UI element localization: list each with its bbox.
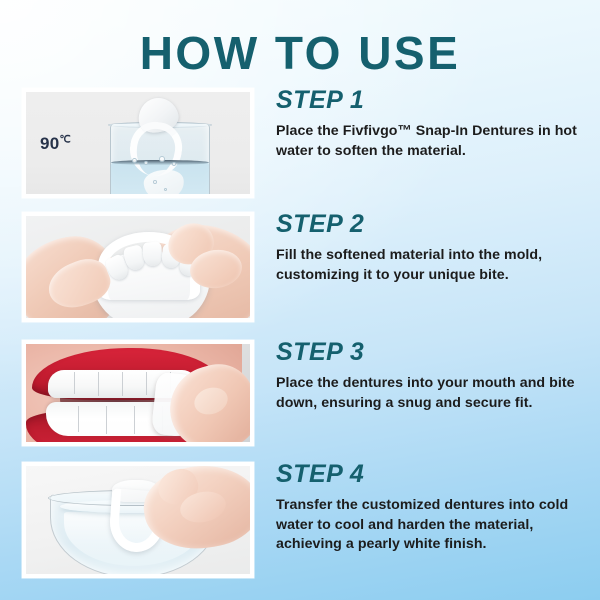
step-row-1: 90℃ STEP 1 Place the Fivfivgo™ Snap-In D… xyxy=(0,88,600,204)
bubble-icon xyxy=(164,188,167,191)
tooth-separator xyxy=(122,372,123,396)
tooth-separator xyxy=(134,406,135,434)
hands-shaping-denture-mold-photo xyxy=(26,216,250,318)
tooth-separator xyxy=(106,406,107,434)
tooth-separator xyxy=(78,406,79,432)
step-2-description: Fill the softened material into the mold… xyxy=(276,246,588,285)
step-3-image-frame xyxy=(22,340,254,446)
step-row-3: STEP 3 Place the dentures into your mout… xyxy=(0,340,600,452)
tooth-separator xyxy=(146,372,147,395)
tooth-separator xyxy=(98,372,99,396)
bubble-icon xyxy=(172,162,176,166)
temperature-unit: ℃ xyxy=(60,134,72,145)
bubble-icon xyxy=(144,161,148,165)
mouth-fitting-denture-veneer-photo xyxy=(26,344,250,442)
step-4-description: Transfer the customized dentures into co… xyxy=(276,496,588,555)
step-3-text-block: STEP 3 Place the dentures into your mout… xyxy=(276,340,588,413)
denture-in-hot-water-glass-photo: 90℃ xyxy=(26,92,250,194)
step-4-image-frame xyxy=(22,462,254,578)
temperature-label: 90℃ xyxy=(40,134,71,154)
step-1-image-frame: 90℃ xyxy=(22,88,254,198)
step-4-label: STEP 4 xyxy=(276,462,588,487)
step-row-4: STEP 4 Transfer the customized dentures … xyxy=(0,462,600,584)
step-2-text-block: STEP 2 Fill the softened material into t… xyxy=(276,212,588,285)
bubble-icon xyxy=(159,156,165,162)
step-1-text-block: STEP 1 Place the Fivfivgo™ Snap-In Dentu… xyxy=(276,88,588,161)
step-3-description: Place the dentures into your mouth and b… xyxy=(276,374,588,413)
step-1-description: Place the Fivfivgo™ Snap-In Dentures in … xyxy=(276,122,588,161)
temperature-value: 90 xyxy=(40,134,60,153)
step-3-label: STEP 3 xyxy=(276,340,588,365)
infographic-page: HOW TO USE 90℃ xyxy=(0,0,600,600)
page-title: HOW TO USE xyxy=(0,26,600,80)
step-2-label: STEP 2 xyxy=(276,212,588,237)
bubble-icon xyxy=(132,158,137,163)
step-row-2: STEP 2 Fill the softened material into t… xyxy=(0,212,600,328)
tooth-separator xyxy=(74,372,75,394)
step-4-text-block: STEP 4 Transfer the customized dentures … xyxy=(276,462,588,555)
step-1-label: STEP 1 xyxy=(276,88,588,113)
step-2-image-frame xyxy=(22,212,254,322)
denture-over-bowl-of-cold-water-photo xyxy=(26,466,250,574)
bubble-icon xyxy=(153,180,157,184)
